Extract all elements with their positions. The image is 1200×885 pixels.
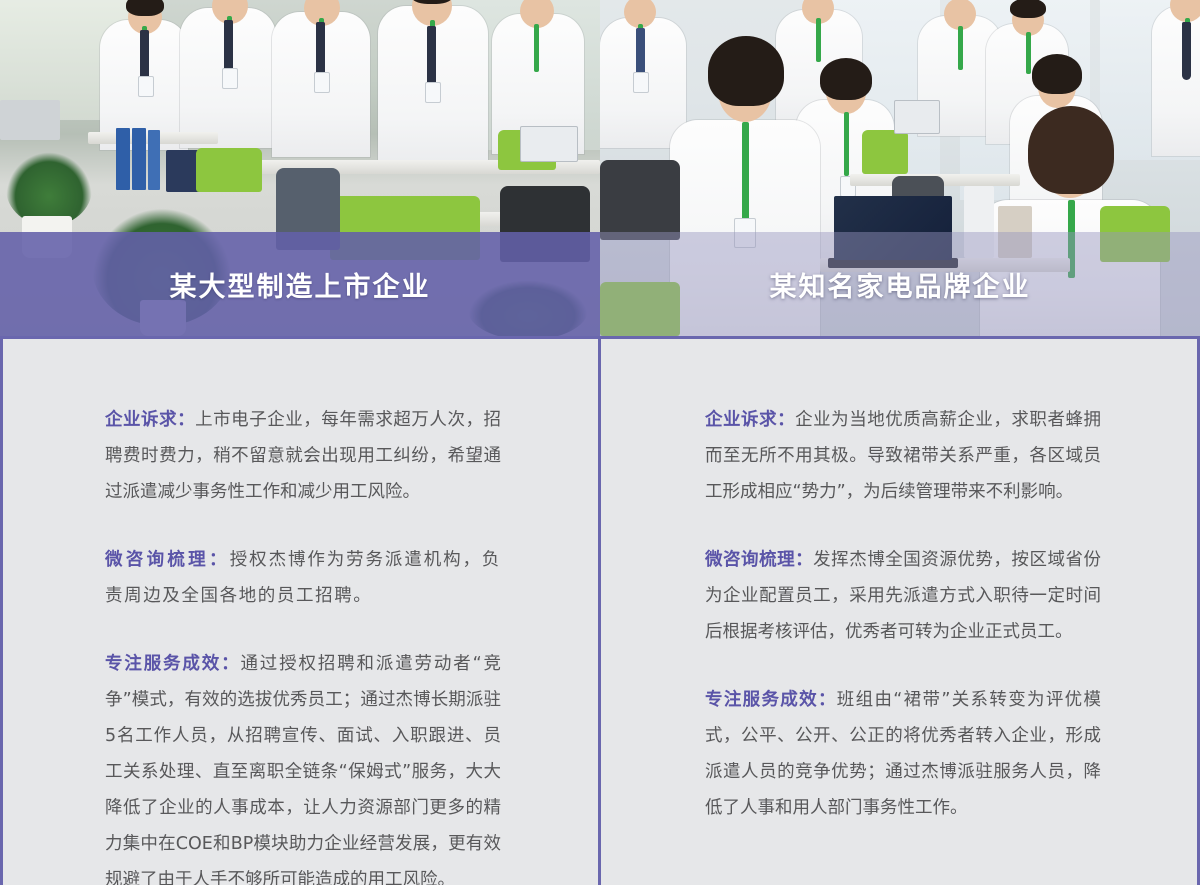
- laptop: [894, 100, 940, 134]
- file-binder: [132, 128, 146, 190]
- employee-hair: [708, 36, 784, 106]
- id-badge: [633, 72, 649, 93]
- id-badge: [222, 68, 238, 89]
- file-binder: [148, 130, 160, 190]
- id-badge: [314, 72, 330, 93]
- paragraph-consulting: 微咨询梳理：发挥杰博全国资源优势，按区域省份为企业配置员工，采用先派遣方式入职待…: [705, 542, 1101, 650]
- lanyard: [958, 26, 963, 70]
- id-badge: [138, 76, 154, 97]
- banner-right-title: 某知名家电品牌企业: [770, 265, 1031, 304]
- paragraph-demand: 企业诉求：企业为当地优质高薪企业，求职者蜂拥而至无所不用其极。导致裙带关系严重，…: [705, 402, 1101, 510]
- id-badge: [425, 82, 441, 103]
- file-binder: [116, 128, 130, 190]
- lanyard: [742, 122, 749, 220]
- banner-right: 某知名家电品牌企业: [600, 232, 1200, 336]
- employee-hair: [820, 58, 872, 100]
- lanyard: [1026, 32, 1031, 74]
- employee-hair: [1032, 54, 1082, 94]
- banner-left-title: 某大型制造上市企业: [170, 265, 431, 304]
- case-column-right: 企业诉求：企业为当地优质高薪企业，求职者蜂拥而至无所不用其极。导致裙带关系严重，…: [705, 339, 1101, 826]
- paragraph-label: 企业诉求：: [705, 410, 795, 430]
- employee-hair: [126, 0, 164, 16]
- column-divider: [598, 339, 601, 885]
- photo-band: 某大型制造上市企业 某知名家电品牌企业: [0, 0, 1200, 336]
- paragraph-label: 企业诉求：: [105, 410, 195, 430]
- paragraph-label: 微咨询梳理：: [105, 550, 230, 570]
- banner-left: 某大型制造上市企业: [0, 232, 600, 336]
- paragraph-label: 微咨询梳理：: [705, 550, 813, 570]
- potted-plant: [6, 152, 92, 226]
- paragraph-demand: 企业诉求：上市电子企业，每年需求超万人次，招聘费时费力，稍不留意就会出现用工纠纷…: [105, 402, 501, 510]
- office-chair: [600, 160, 680, 240]
- employee-hair: [1010, 0, 1046, 18]
- employee-hair: [1028, 106, 1114, 194]
- paragraph-consulting: 微咨询梳理：授权杰博作为劳务派遣机构，负责周边及全国各地的员工招聘。: [105, 542, 501, 614]
- paragraph-text: 通过授权招聘和派遣劳动者“竞争”模式，有效的选拔优秀员工；通过杰博长期派驻5名工…: [105, 654, 501, 885]
- case-study-page: 某大型制造上市企业 某知名家电品牌企业 企业诉求：上市电子企业，每年需求超万人次…: [0, 0, 1200, 885]
- case-column-left: 企业诉求：上市电子企业，每年需求超万人次，招聘费时费力，稍不留意就会出现用工纠纷…: [105, 339, 501, 885]
- lanyard: [816, 18, 821, 62]
- content-border-left: [0, 336, 3, 885]
- green-chair-back: [862, 130, 908, 174]
- lanyard: [844, 112, 849, 176]
- lanyard: [534, 24, 539, 72]
- paragraph-outcome: 专注服务成效：通过授权招聘和派遣劳动者“竞争”模式，有效的选拔优秀员工；通过杰博…: [105, 646, 501, 885]
- paragraph-label: 专注服务成效：: [105, 654, 240, 674]
- employee-figure: [1152, 6, 1200, 156]
- laptop: [520, 126, 578, 162]
- green-chair-back: [196, 148, 262, 192]
- office-desk: [0, 100, 60, 140]
- paragraph-outcome: 专注服务成效：班组由“裙带”关系转变为评优模式，公平、公开、公正的将优秀者转入企…: [705, 682, 1101, 826]
- necktie: [1182, 22, 1191, 80]
- paragraph-label: 专注服务成效：: [705, 690, 837, 710]
